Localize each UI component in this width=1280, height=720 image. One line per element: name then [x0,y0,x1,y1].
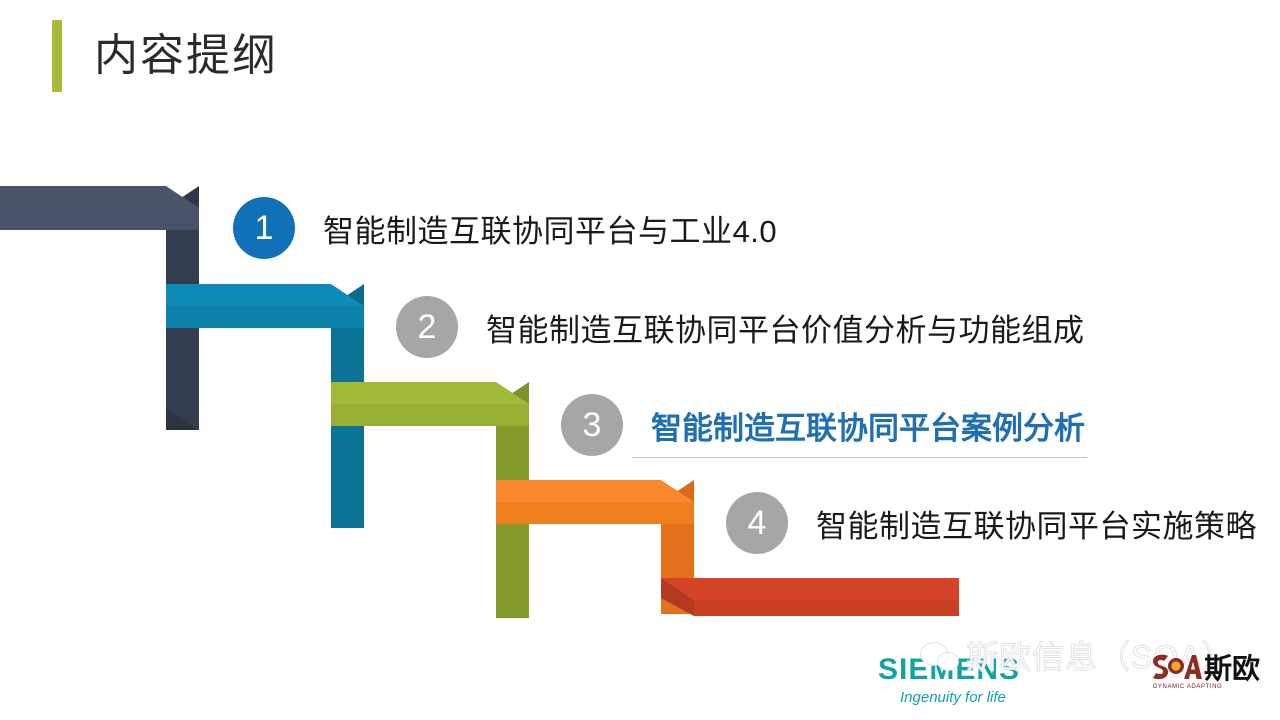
soa-logo: 斯欧 [1150,652,1260,686]
outline-item-3-underline [632,457,1087,458]
soa-letter-s [1153,655,1168,680]
soa-chinese-name: 斯欧 [1204,655,1260,683]
siemens-wordmark: SIEMENS [878,655,1078,685]
step-1-top-face [0,208,199,230]
siemens-tagline: Ingenuity for life [900,690,1078,705]
outline-number-badge-4: 4 [726,492,788,554]
page-title: 内容提纲 [94,34,278,78]
step-2-top-face [166,306,364,328]
slide-title-block: 内容提纲 [52,20,278,92]
outline-number-badge-1: 1 [233,197,295,259]
soa-letter-a [1184,655,1202,679]
step-1-top [0,186,199,208]
soa-subtitle: DYNAMIC ADAPTING [1153,684,1222,690]
step-2-top [166,284,364,306]
outline-item-1[interactable]: 1 智能制造互联协同平台与工业4.0 [233,197,777,259]
outline-label-4: 智能制造互联协同平台实施策略 [816,501,1257,546]
step-3-top [331,382,529,404]
outline-number-badge-2: 2 [396,296,458,358]
step-1-riser-shadow [166,230,199,430]
step-5-top [661,578,959,600]
step-4-top [496,480,694,502]
step-5-front [694,600,959,616]
soa-mark-icon [1150,652,1202,686]
soa-letter-o-dot [1171,661,1180,670]
step-3-top-face [331,404,529,426]
slide-canvas: 内容提纲 [0,0,1280,720]
soa-mark-svg [1150,652,1202,686]
siemens-logo: SIEMENS Ingenuity for life [878,655,1078,705]
outline-label-3: 智能制造互联协同平台案例分析 [651,403,1085,448]
outline-label-1: 智能制造互联协同平台与工业4.0 [323,206,777,251]
step-2-riser-shadow [331,328,364,528]
outline-item-3[interactable]: 3 智能制造互联协同平台案例分析 [561,394,1085,456]
outline-item-2[interactable]: 2 智能制造互联协同平台价值分析与功能组成 [396,296,1085,358]
outline-number-badge-3: 3 [561,394,623,456]
outline-label-2: 智能制造互联协同平台价值分析与功能组成 [486,305,1085,350]
outline-item-4[interactable]: 4 智能制造互联协同平台实施策略 [726,492,1257,554]
title-accent-bar [52,20,62,92]
step-4-top-face [496,502,694,524]
staircase-step-5 [661,578,959,616]
